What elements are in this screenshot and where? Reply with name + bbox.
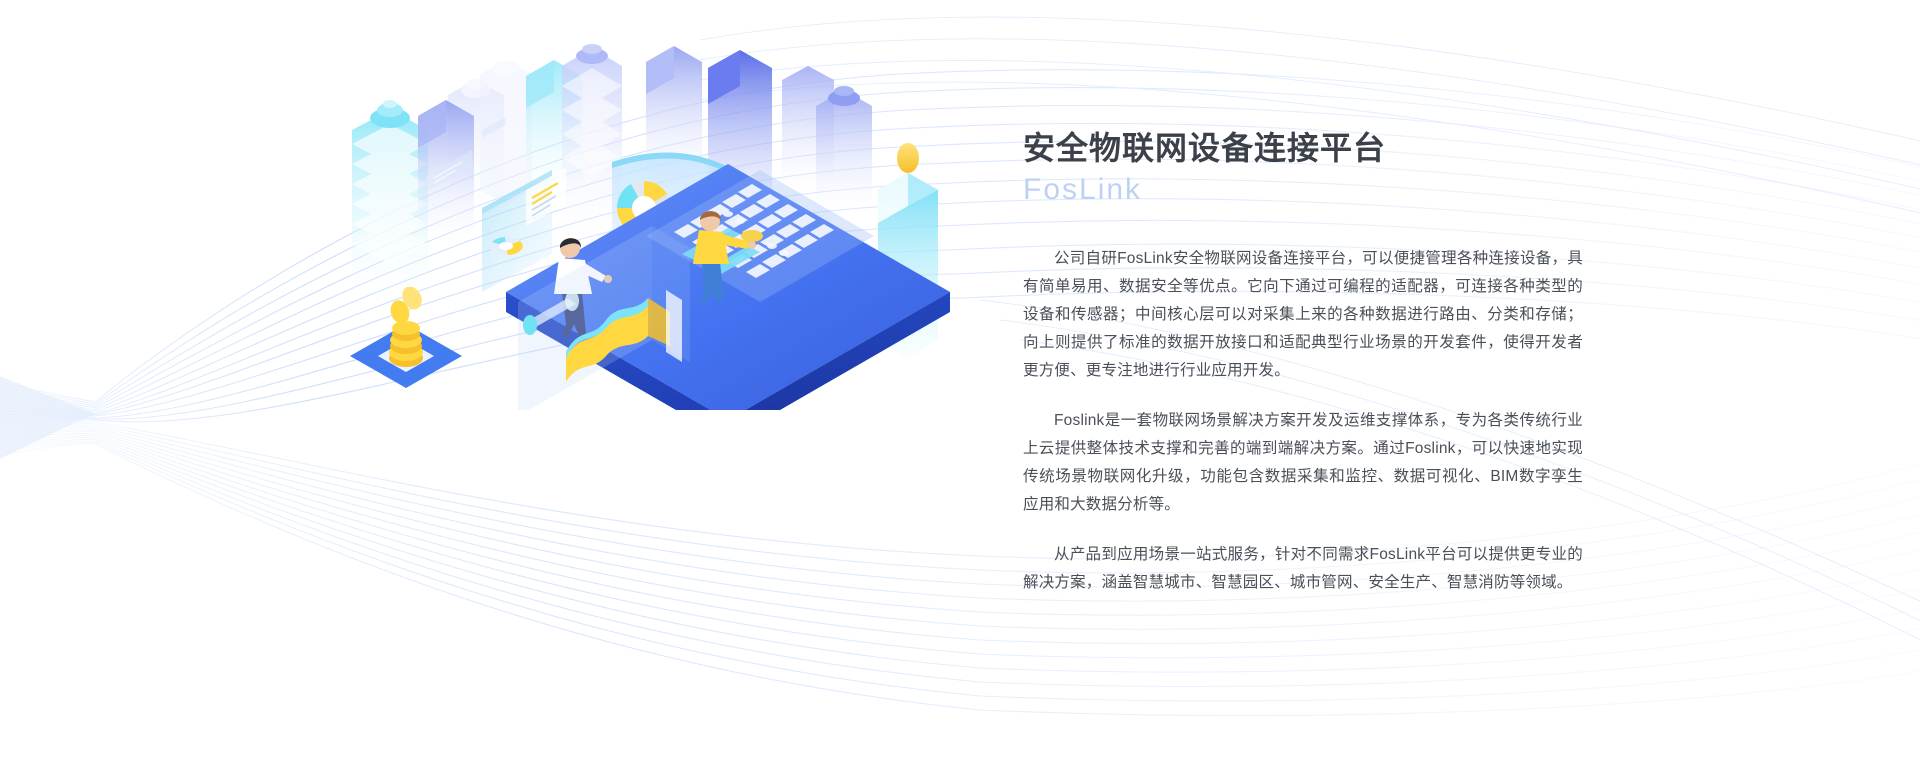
- description-paragraph: 从产品到应用场景一站式服务，针对不同需求FosLink平台可以提供更专业的解决方…: [1023, 541, 1583, 597]
- gold-coin: [897, 143, 919, 173]
- description-paragraph: Foslink是一套物联网场景解决方案开发及运维支撑体系，专为各类传统行业上云提…: [1023, 407, 1583, 519]
- description-paragraph: 公司自研FosLink安全物联网设备连接平台，可以便捷管理各种连接设备，具有简单…: [1023, 245, 1583, 385]
- page-title: 安全物联网设备连接平台: [1023, 128, 1583, 168]
- hero-content: 安全物联网设备连接平台 FosLink 公司自研FosLink安全物联网设备连接…: [1023, 128, 1583, 597]
- stacked-coins: [389, 321, 423, 367]
- product-name-subtitle: FosLink: [1023, 170, 1583, 211]
- building-stepped-left: [352, 100, 428, 302]
- building-stepped-right: [816, 86, 872, 216]
- page-root: 安全物联网设备连接平台 FosLink 公司自研FosLink安全物联网设备连接…: [0, 0, 1920, 760]
- hero-illustration: [330, 40, 970, 410]
- coin-stack: [350, 283, 462, 388]
- highlight-dot: [741, 230, 763, 242]
- description-block: 公司自研FosLink安全物联网设备连接平台，可以便捷管理各种连接设备，具有简单…: [1023, 245, 1583, 597]
